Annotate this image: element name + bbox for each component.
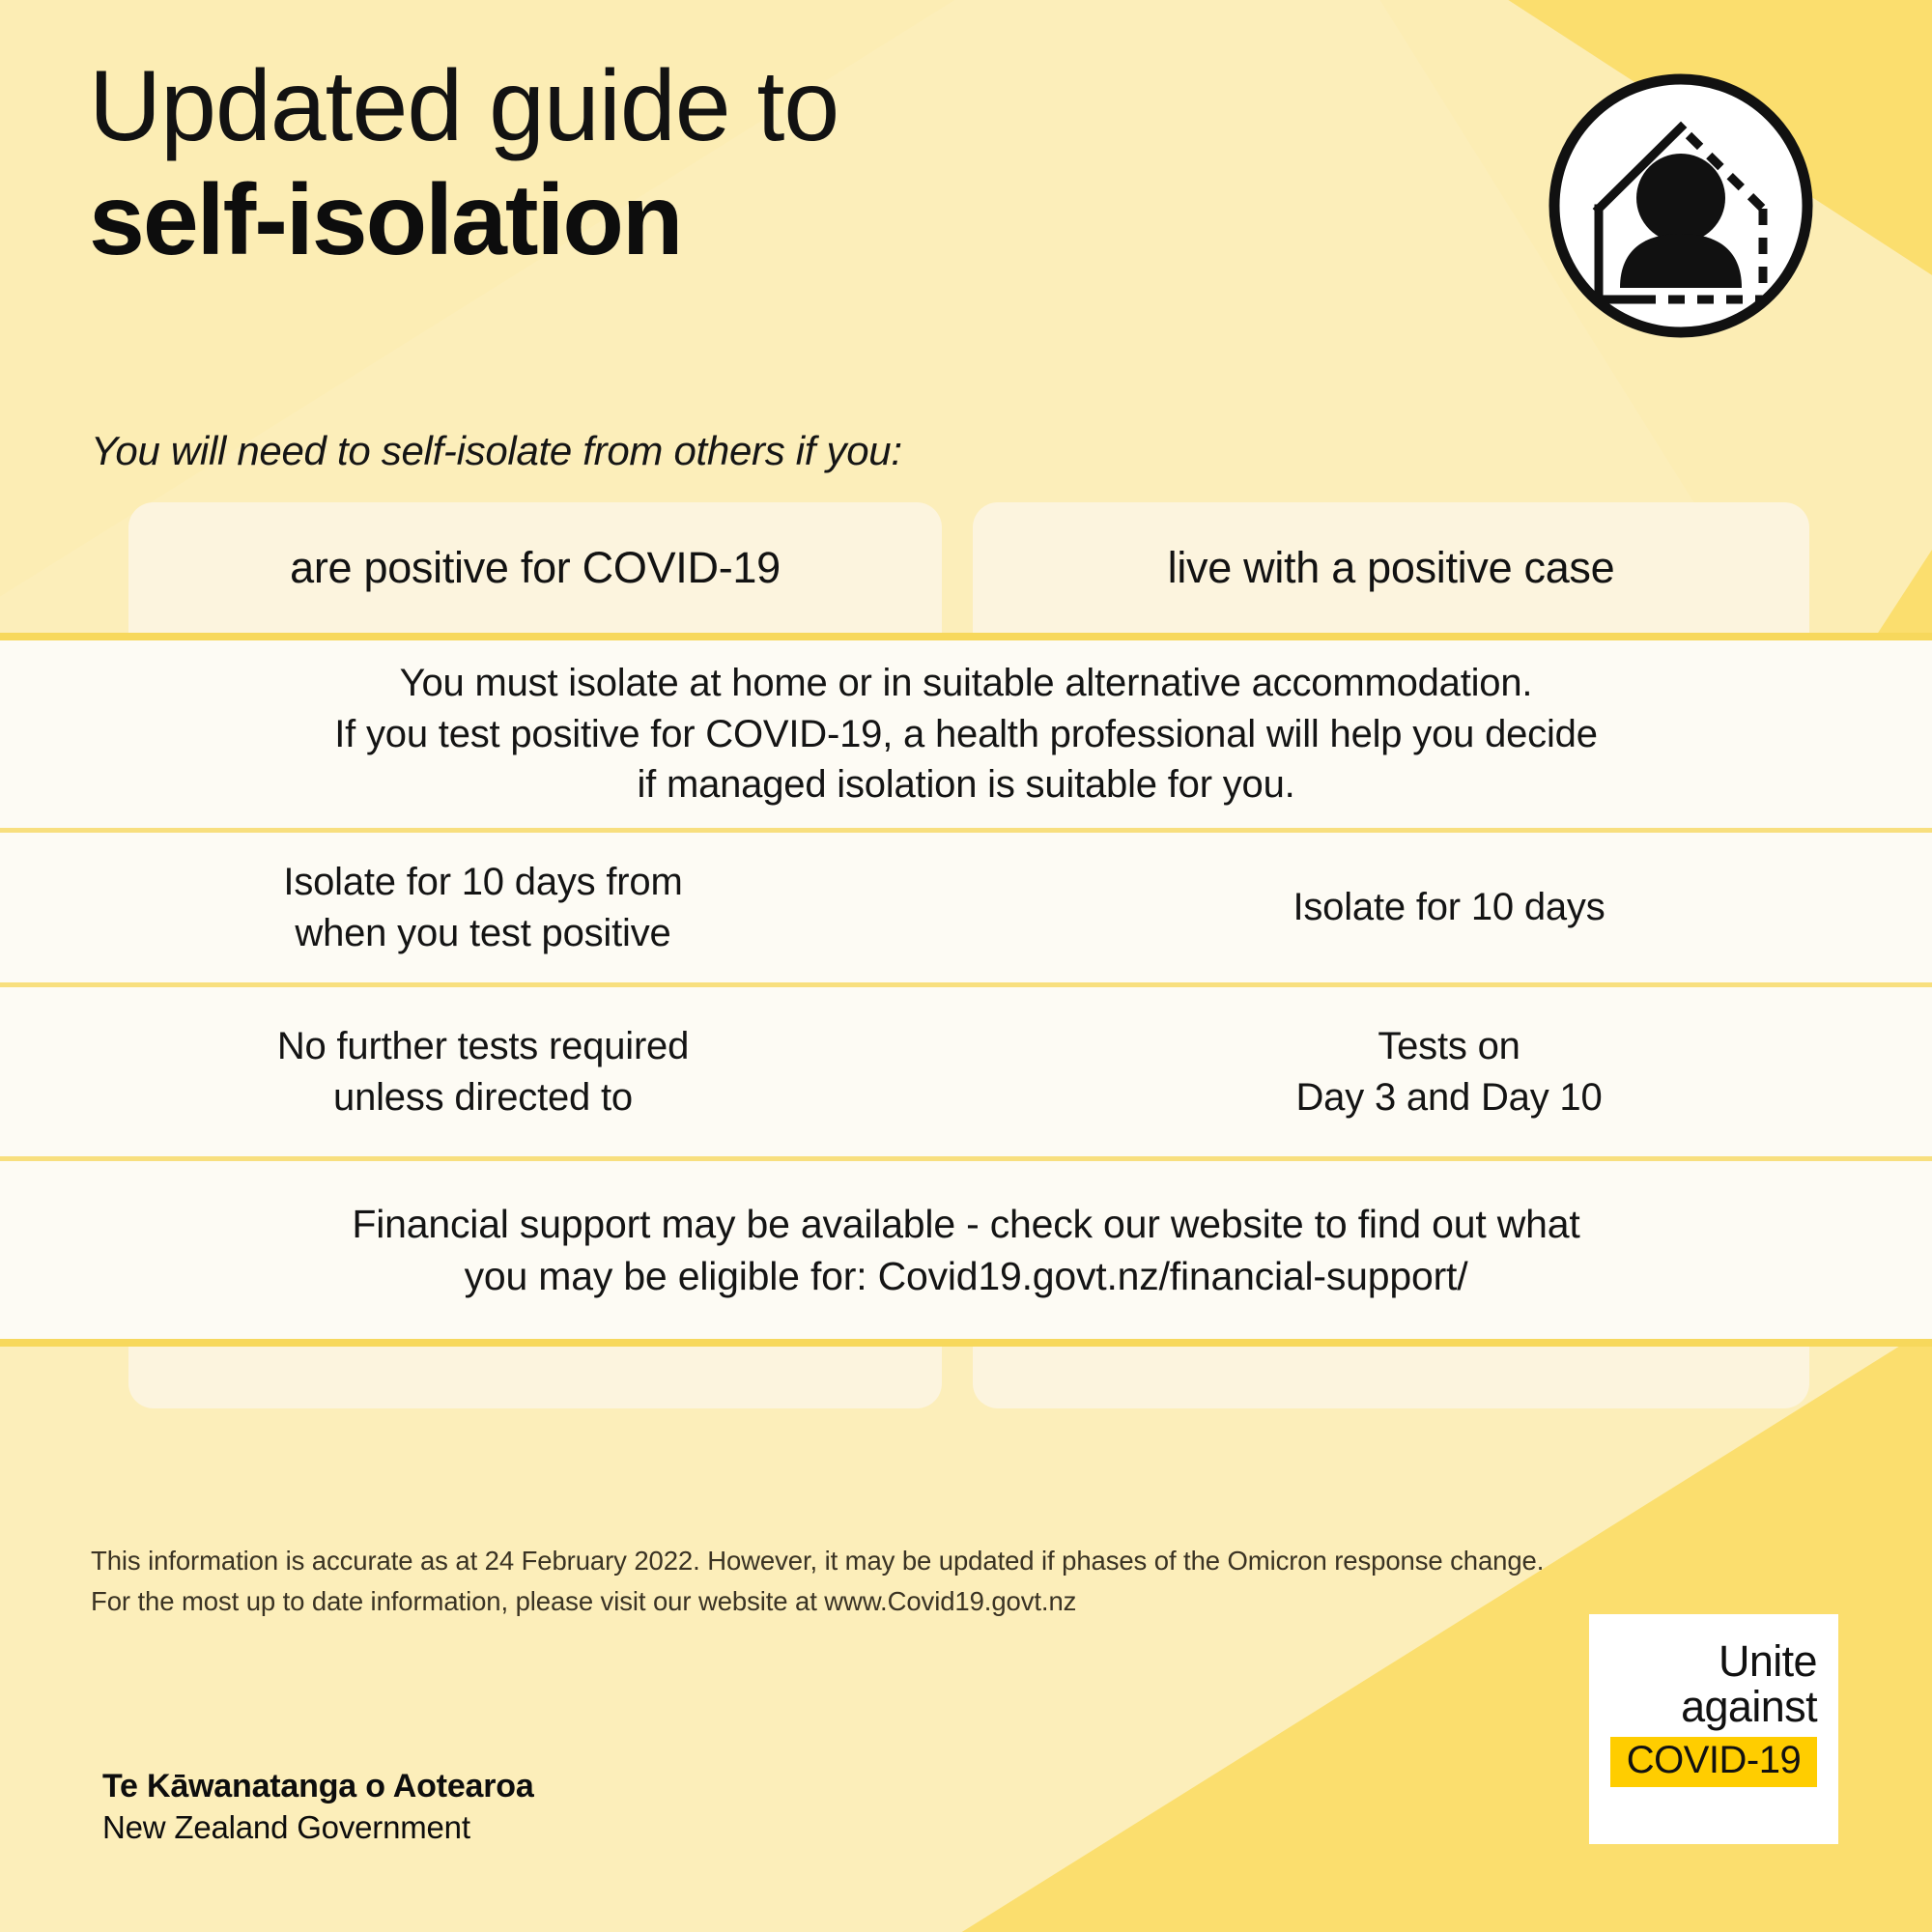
table-cell-right: Tests on Day 3 and Day 10 <box>966 987 1932 1156</box>
table-footer-row <box>0 1347 1932 1408</box>
column-header-positive-label: are positive for COVID-19 <box>290 543 781 593</box>
house-with-person-isolation-icon <box>1543 68 1819 344</box>
table-row: You must isolate at home or in suitable … <box>0 640 1932 828</box>
table-cell-text: Tests on Day 3 and Day 10 <box>1296 1021 1603 1123</box>
table-cell-line: when you test positive <box>283 908 682 959</box>
disclaimer-text: This information is accurate as at 24 Fe… <box>91 1541 1559 1622</box>
unite-against-covid-line-2: against <box>1610 1685 1817 1730</box>
table-cell-text: You must isolate at home or in suitable … <box>334 658 1598 810</box>
table-row: Financial support may be available - che… <box>0 1161 1932 1339</box>
table-cell-text: No further tests required unless directe… <box>277 1021 689 1123</box>
table-cell-line: You must isolate at home or in suitable … <box>334 658 1598 709</box>
table-cell-line: Tests on <box>1296 1021 1603 1072</box>
table-cell-line: if managed isolation is suitable for you… <box>334 759 1598 810</box>
divider <box>0 633 1932 640</box>
table-cell-text: Isolate for 10 days <box>1293 882 1605 933</box>
divider <box>0 1339 1932 1347</box>
unite-against-covid-logo: Unite against COVID-19 <box>1589 1614 1838 1844</box>
table-row: No further tests required unless directe… <box>0 987 1932 1156</box>
lede-text: You will need to self-isolate from other… <box>91 428 902 474</box>
column-tail-household <box>973 1347 1809 1408</box>
table-cell-line: Isolate for 10 days <box>1293 882 1605 933</box>
table-cell-full: Financial support may be available - che… <box>0 1161 1932 1339</box>
table-cell-text: Isolate for 10 days from when you test p… <box>283 857 682 959</box>
nz-government-logo: Te Kāwanatanga o Aotearoa New Zealand Go… <box>102 1766 534 1847</box>
isolation-rules-table: are positive for COVID-19 live with a po… <box>0 502 1932 1408</box>
poster-root: Updated guide to self-isolation You will… <box>0 0 1932 1932</box>
column-tail-positive <box>128 1347 942 1408</box>
column-header-positive: are positive for COVID-19 <box>128 502 942 633</box>
nz-government-logo-maori: Te Kāwanatanga o Aotearoa <box>102 1766 534 1807</box>
table-cell-text: Financial support may be available - che… <box>352 1198 1579 1302</box>
table-cell-line: Financial support may be available - che… <box>352 1198 1579 1250</box>
column-header-household: live with a positive case <box>973 502 1809 633</box>
table-row: Isolate for 10 days from when you test p… <box>0 833 1932 982</box>
unite-against-covid-line-1: Unite <box>1610 1639 1817 1685</box>
page-title-line-2: self-isolation <box>89 162 1151 279</box>
column-header-household-label: live with a positive case <box>1168 543 1615 593</box>
page-title-line-1: Updated guide to <box>89 50 1151 162</box>
poster-content: Updated guide to self-isolation You will… <box>0 0 1932 1932</box>
table-cell-right: Isolate for 10 days <box>966 833 1932 982</box>
table-cell-full: You must isolate at home or in suitable … <box>0 640 1932 828</box>
table-cell-line: unless directed to <box>277 1072 689 1123</box>
unite-against-covid-badge: COVID-19 <box>1610 1737 1817 1787</box>
page-title: Updated guide to self-isolation <box>89 50 1151 279</box>
nz-government-logo-english: New Zealand Government <box>102 1807 534 1847</box>
table-header-row: are positive for COVID-19 live with a po… <box>0 502 1932 633</box>
financial-support-link[interactable]: you may be eligible for: Covid19.govt.nz… <box>352 1250 1579 1302</box>
table-cell-left: No further tests required unless directe… <box>0 987 966 1156</box>
table-cell-line: If you test positive for COVID-19, a hea… <box>334 709 1598 760</box>
table-cell-line: No further tests required <box>277 1021 689 1072</box>
table-cell-line: Isolate for 10 days from <box>283 857 682 908</box>
table-cell-line: Day 3 and Day 10 <box>1296 1072 1603 1123</box>
table-cell-left: Isolate for 10 days from when you test p… <box>0 833 966 982</box>
